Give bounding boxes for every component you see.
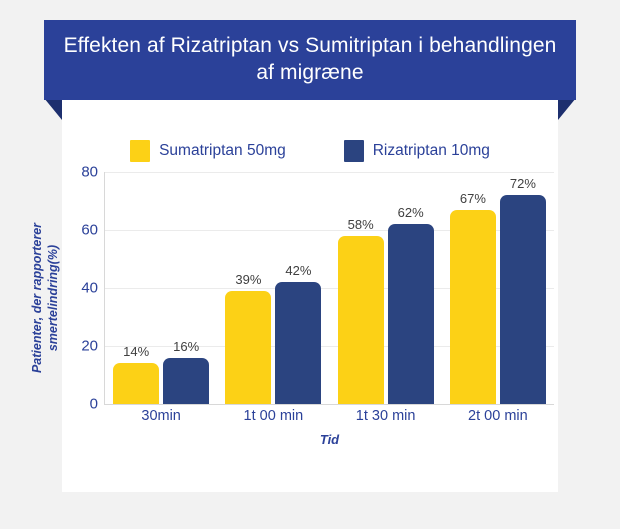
x-axis-tick: 1t 00 min	[217, 408, 329, 424]
chart-legend: Sumatriptan 50mg Rizatriptan 10mg	[62, 140, 558, 162]
legend-label: Rizatriptan 10mg	[373, 142, 490, 160]
legend-swatch-icon	[344, 140, 364, 162]
gridline	[105, 230, 554, 231]
chart-axes	[104, 172, 554, 405]
y-axis-title: Patienter, der rapporterer smertelindrin…	[30, 210, 61, 386]
y-axis-tick: 80	[62, 164, 98, 181]
title-banner: Effekten af Rizatriptan vs Sumitriptan i…	[0, 20, 620, 110]
legend-item-rizatriptan[interactable]: Rizatriptan 10mg	[344, 140, 490, 162]
y-axis-tick: 20	[62, 338, 98, 355]
legend-label: Sumatriptan 50mg	[159, 142, 286, 160]
x-axis-tick: 30min	[105, 408, 217, 424]
legend-swatch-icon	[130, 140, 150, 162]
y-axis-title-line1: Patienter, der rapporterer	[30, 223, 44, 373]
x-axis-tick-labels: 30min1t 00 min1t 30 min2t 00 min	[105, 408, 554, 424]
gridline	[105, 172, 554, 173]
gridline	[105, 346, 554, 347]
x-axis-title: Tid	[105, 432, 554, 447]
page-title: Effekten af Rizatriptan vs Sumitriptan i…	[44, 33, 576, 87]
y-axis-tick-labels: 806040200	[62, 172, 98, 404]
banner-tail-right	[558, 98, 576, 120]
banner-body: Effekten af Rizatriptan vs Sumitriptan i…	[44, 20, 576, 100]
x-axis-tick: 2t 00 min	[442, 408, 554, 424]
banner-tail-left	[44, 98, 62, 120]
y-axis-tick: 60	[62, 222, 98, 239]
gridline	[105, 288, 554, 289]
y-axis-tick: 40	[62, 280, 98, 297]
legend-item-sumatriptan[interactable]: Sumatriptan 50mg	[130, 140, 286, 162]
chart-plot-area: Patienter, der rapporterer smertelindrin…	[62, 172, 558, 412]
x-axis-tick: 1t 30 min	[330, 408, 442, 424]
y-axis-title-line2: smertelindring(%)	[46, 245, 60, 351]
y-axis-tick: 0	[62, 396, 98, 413]
infographic-root: Effekten af Rizatriptan vs Sumitriptan i…	[0, 0, 620, 529]
